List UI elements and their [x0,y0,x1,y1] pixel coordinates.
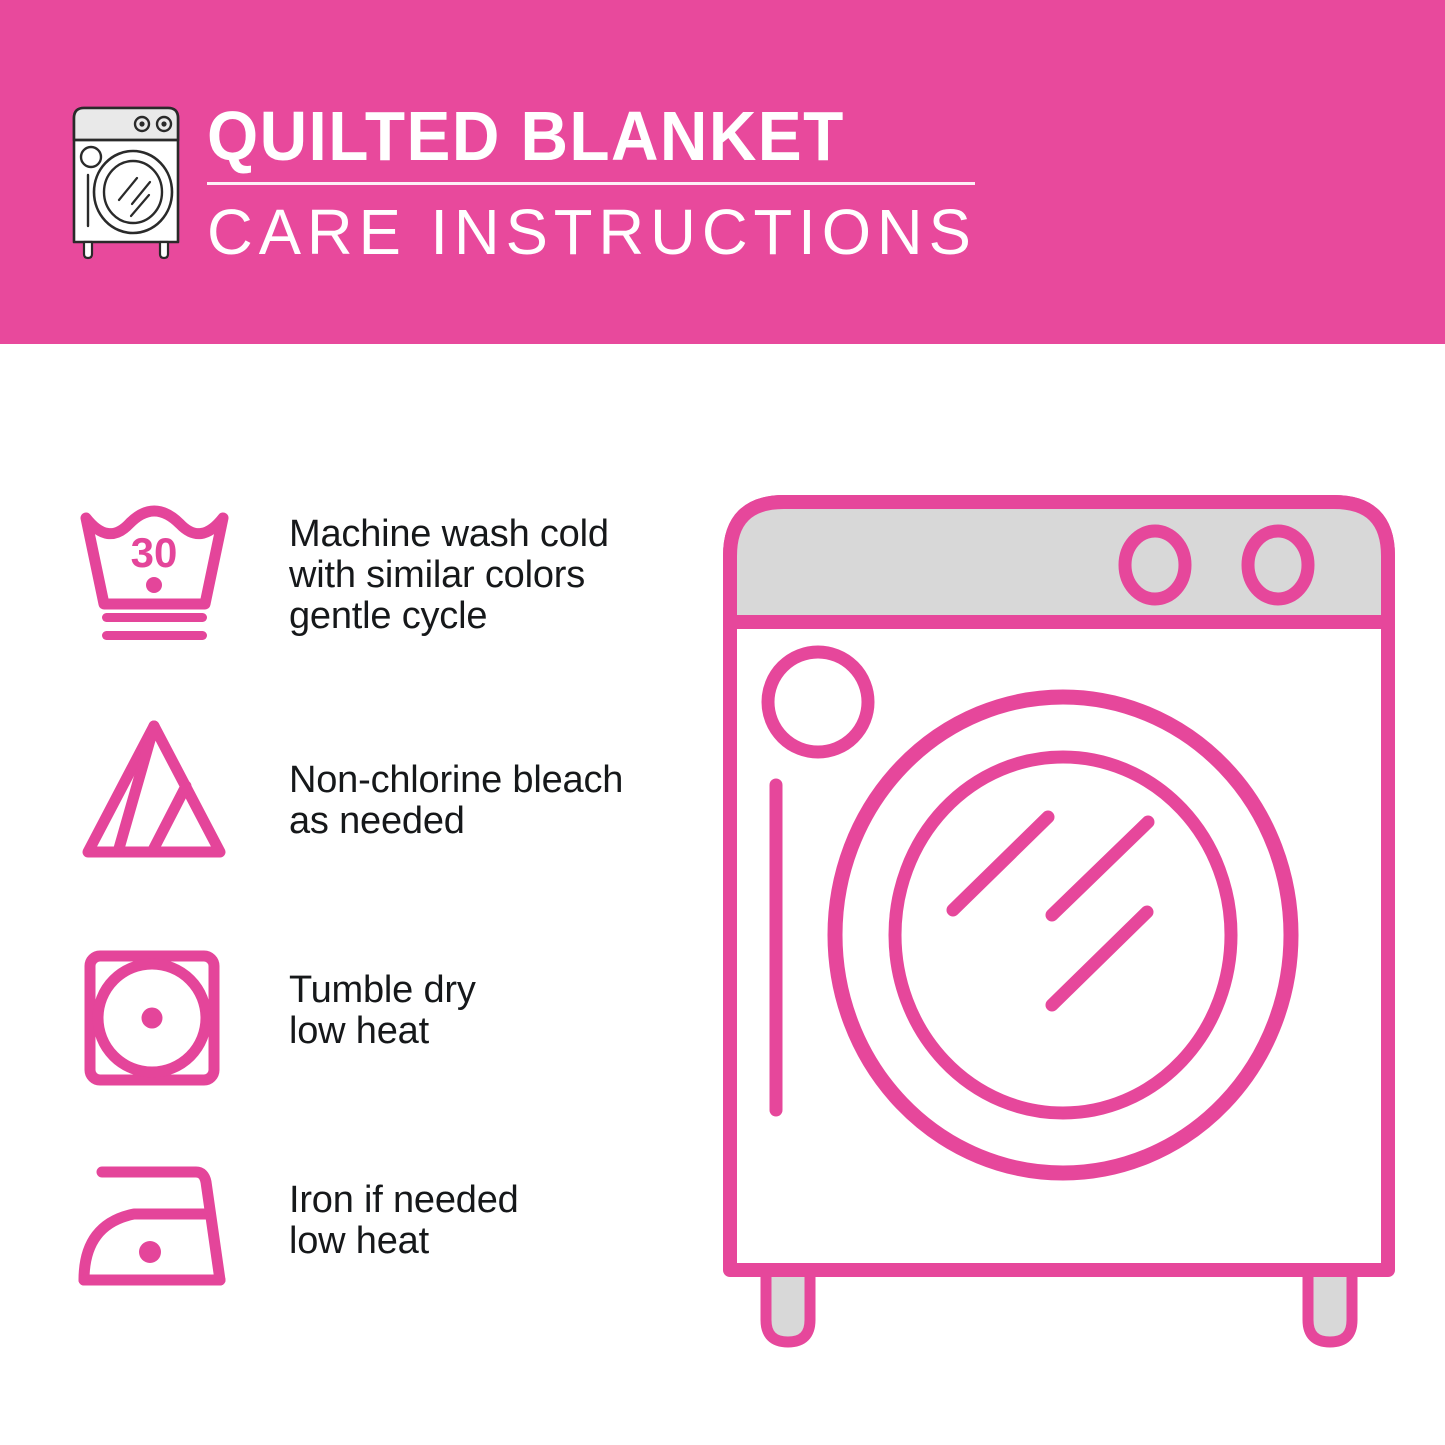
svg-text:30: 30 [131,529,178,576]
care-instruction-list: 30 Machine wash cold with similar colors… [0,344,700,1445]
bleach-triangle-icon [72,714,237,864]
washing-machine-illustration [700,480,1445,1380]
header-title-block: QUILTED BLANKET CARE INSTRUCTIONS [207,97,997,267]
care-instructions-page: QUILTED BLANKET CARE INSTRUCTIONS 30 [0,0,1445,1445]
wash-tub-30-icon: 30 [72,500,237,650]
care-text-tumble-dry: Tumble dry low heat [289,970,476,1052]
page-title: QUILTED BLANKET [207,97,950,175]
care-text-iron: Iron if needed low heat [289,1180,519,1262]
washing-machine-icon [60,100,192,260]
care-text-line: low heat [289,1221,519,1262]
care-text-line: with similar colors [289,555,609,596]
care-text-line: Tumble dry [289,970,476,1011]
title-divider [207,182,975,185]
care-text-line: Non-chlorine bleach [289,760,623,801]
care-text-line: Iron if needed [289,1180,519,1221]
iron-icon [72,1152,237,1302]
page-subtitle: CARE INSTRUCTIONS [207,197,989,267]
tumble-dry-icon [72,942,237,1092]
leg-left [766,1270,810,1342]
header-banner: QUILTED BLANKET CARE INSTRUCTIONS [0,0,1445,344]
care-text-line: low heat [289,1011,476,1052]
care-text-machine-wash: Machine wash cold with similar colors ge… [289,514,609,637]
care-text-line: gentle cycle [289,596,609,637]
care-text-line: Machine wash cold [289,514,609,555]
leg-right [1308,1270,1352,1342]
care-text-bleach: Non-chlorine bleach as needed [289,760,623,842]
care-text-line: as needed [289,801,623,842]
